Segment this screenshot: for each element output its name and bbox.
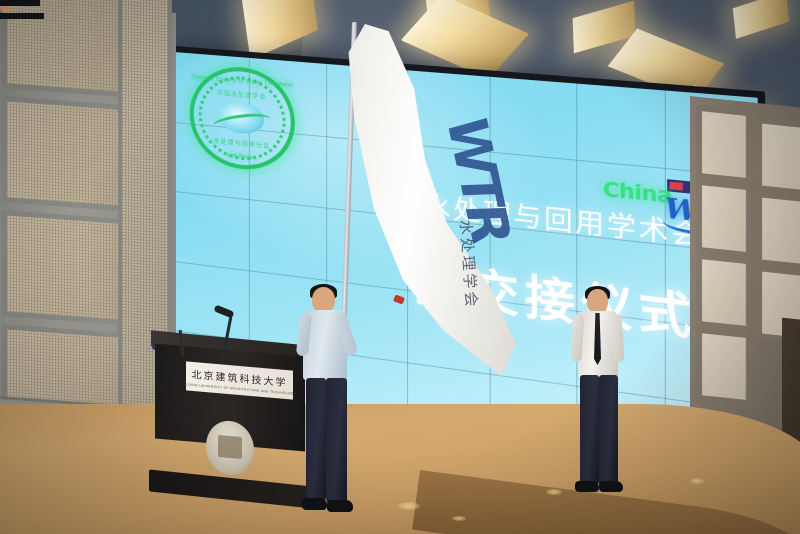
- shoe: [575, 481, 599, 492]
- wall-panel-cell: [696, 179, 752, 259]
- leg: [326, 378, 347, 504]
- presenter-right: [0, 0, 40, 6]
- wall-panel-cell: [756, 191, 800, 271]
- floor-highlight: [398, 502, 420, 510]
- leg: [599, 375, 618, 485]
- wall-panel-cell: [696, 327, 752, 407]
- university-seal-center: [218, 435, 242, 459]
- shoe: [302, 498, 327, 510]
- floor-highlight: [452, 516, 466, 521]
- water-society-emblem: Chinese Society of Water Treatment and R…: [190, 63, 295, 174]
- shoe: [327, 500, 353, 512]
- logo-china-text: China: [603, 177, 672, 208]
- wall-panel-cell: [696, 105, 752, 185]
- shoe: [599, 481, 623, 492]
- belt: [0, 13, 44, 19]
- flag-wtr-mark: WTR: [315, 116, 522, 236]
- wall-panel-cell: [696, 253, 752, 333]
- photo-scene: Chinese Society of Water Treatment and R…: [0, 0, 800, 534]
- leg: [306, 378, 326, 502]
- belt: [0, 0, 40, 6]
- leg: [580, 375, 599, 485]
- wall-panel-cell: [756, 117, 800, 197]
- floor-highlight: [546, 489, 562, 495]
- floor-highlight: [690, 478, 704, 484]
